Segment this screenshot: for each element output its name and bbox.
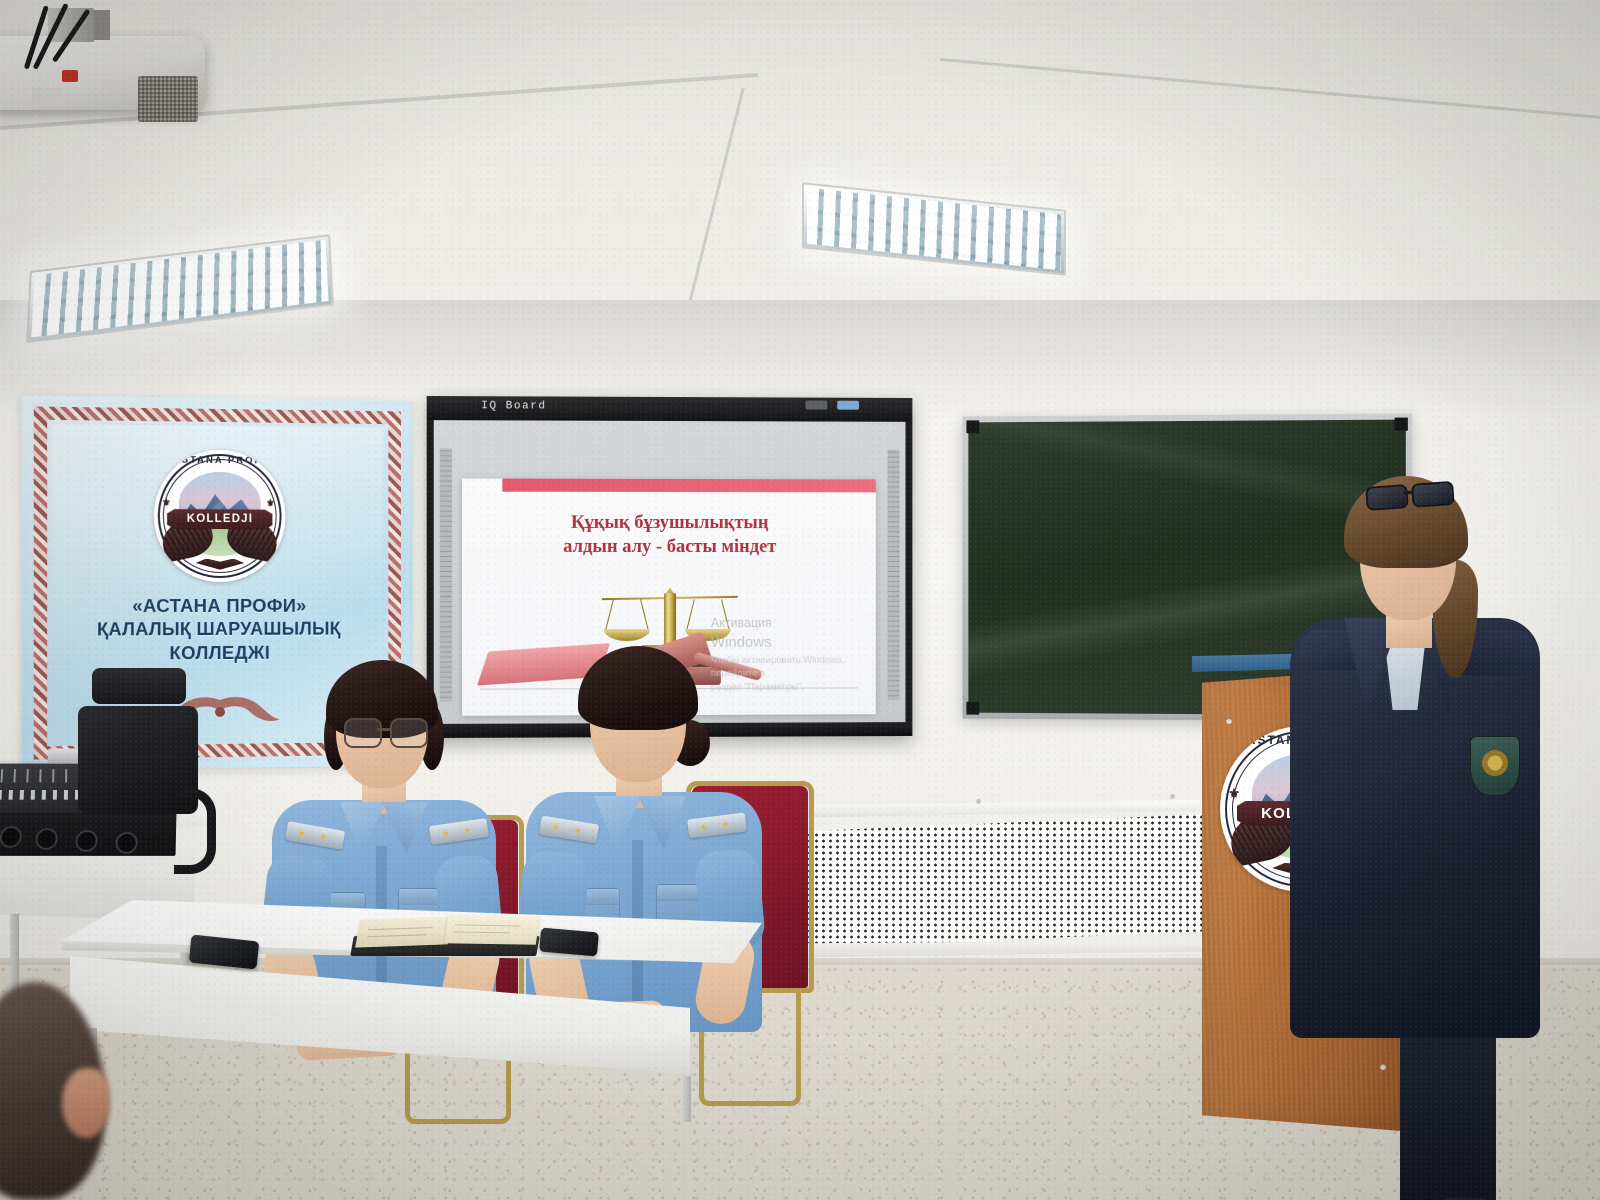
smartphone-right[interactable]: [539, 928, 599, 957]
radiator-screw-3: [1170, 794, 1175, 799]
eyeglasses-lens-right: [390, 718, 428, 748]
office-chair-armrest: [174, 788, 216, 874]
notebook-page-left: [355, 916, 453, 947]
epaulette-star-5: [552, 823, 560, 831]
eyeglasses-bridge: [377, 728, 391, 731]
projector-lens-housing: [32, 88, 62, 106]
epaulette-star-8: [722, 821, 730, 829]
whiteboard-right-rail: [888, 450, 900, 701]
banner-line-1: «АСТАНА ПРОФИ»: [21, 594, 412, 618]
eyeglasses-lens-left: [344, 718, 382, 748]
notebook-ruled-line-4: [454, 931, 510, 933]
classroom-photo: ASTANA PROFI KOLLEDJI ⚜ ⚜ «АСТАНА ПРОФИ»…: [0, 0, 1600, 1200]
projector-mount-arm: [94, 10, 110, 40]
amplifier-jack-1[interactable]: [0, 826, 23, 848]
whiteboard-status-led: [837, 401, 859, 410]
emblem-tamga-left-icon: ⚜: [162, 497, 174, 512]
banner-line-2: ҚАЛАЛЫҚ ШАРУАШЫЛЫҚ: [21, 617, 412, 641]
radiator-cover: [762, 800, 1214, 962]
table-apron: [70, 956, 690, 1074]
notebook-ruled-line-1: [368, 927, 433, 930]
epaulette-star-4: [463, 826, 471, 834]
whiteboard-brand-label: IQ Board: [481, 400, 546, 412]
projector-vent: [138, 76, 198, 122]
podium-screw: [1226, 718, 1232, 724]
sunglasses-lens-left: [1365, 484, 1409, 511]
chalkboard-corner-bracket-bl: [966, 702, 979, 715]
epaulette-star-6: [573, 827, 581, 835]
officer-right-hair: [578, 646, 698, 730]
slide-title-line-2: алдын алу - басты міндет: [476, 535, 862, 559]
slide-accent-bar: [502, 479, 875, 493]
banner-college-emblem: ASTANA PROFI KOLLEDJI ⚜ ⚜: [154, 449, 286, 582]
eyeglasses-icon: [344, 718, 426, 746]
scales-string-left-2: [640, 599, 649, 630]
emblem-ribbon: KOLLEDJI: [167, 509, 272, 529]
banner-college-name: «АСТАНА ПРОФИ» ҚАЛАЛЫҚ ШАРУАШЫЛЫҚ КОЛЛЕД…: [21, 594, 412, 666]
slide-title-line-1: Құқық бұзушылықтың: [476, 511, 862, 535]
shoulder-patch-icon: [1470, 736, 1520, 796]
radiator-top-cap: [762, 800, 1214, 818]
sunglasses-lens-right: [1411, 481, 1455, 508]
projector-power-plug: [62, 70, 78, 82]
office-chair[interactable]: [78, 668, 198, 878]
foreground-audience-ear: [62, 1068, 110, 1138]
scales-string-right-1: [686, 599, 695, 630]
epaulette-star-7: [700, 823, 708, 831]
notebook-page-right: [444, 915, 540, 945]
person-standing-officer: [1282, 468, 1582, 1168]
epaulette-star-2: [319, 833, 327, 841]
open-notebook[interactable]: [352, 914, 538, 960]
watermark-line-1: Активация: [711, 616, 772, 630]
whiteboard-power-button[interactable]: [805, 401, 827, 410]
ceiling-projector: [0, 8, 240, 113]
chalkboard-corner-bracket-tl: [966, 420, 979, 433]
table-leg-front-right: [682, 1076, 691, 1122]
chalkboard-corner-bracket-tr: [1395, 418, 1408, 431]
radiator-screw-2: [976, 799, 981, 804]
emblem-tamga-right-icon: ⚜: [266, 498, 278, 513]
emblem-ribbon-text: KOLLEDJI: [187, 513, 253, 525]
notebook-ruled-line-2: [367, 934, 426, 937]
radiator-perforated-mesh: [764, 814, 1212, 950]
scales-string-left-1: [605, 599, 614, 630]
epaulette-star-1: [298, 829, 306, 837]
emblem-eagle-icon: [196, 558, 245, 569]
standing-officer-legs: [1400, 1028, 1496, 1200]
office-chair-headrest: [92, 668, 186, 704]
slide-title: Құқық бұзушылықтың алдын алу - басты мін…: [476, 511, 862, 559]
shoulder-patch-emblem: [1482, 750, 1508, 776]
amplifier-jack-2[interactable]: [35, 828, 58, 850]
notebook-ruled-line-3: [455, 924, 521, 926]
podium-emblem-tamga-left-icon: ⚜: [1228, 786, 1243, 804]
emblem-top-text: ASTANA PROFI: [173, 455, 267, 467]
epaulette-star-3: [442, 829, 450, 837]
